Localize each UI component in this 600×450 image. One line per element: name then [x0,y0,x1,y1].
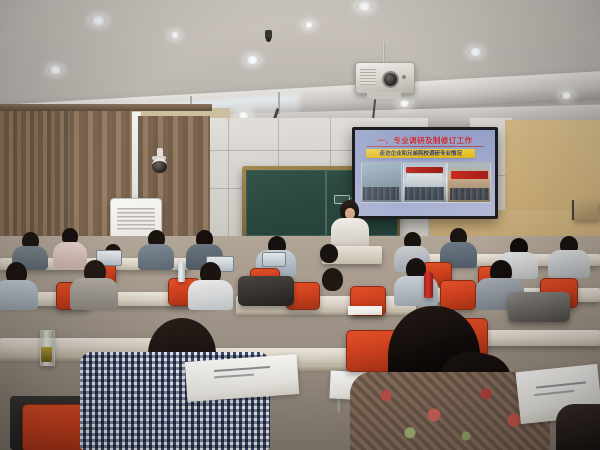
projector-indicator [402,75,406,79]
photo-banner [451,171,488,179]
downlight-icon [560,92,573,99]
backpack [238,276,294,306]
desk-edge [236,311,416,315]
downlight-icon [90,16,107,25]
classroom-scene: flowchart diagram 一、专业调研及制修订工作 走访企业和兄弟院校… [0,0,600,450]
projector-bracket [367,92,401,99]
downlight-icon [48,66,63,74]
downlight-icon [170,32,180,38]
attendee-arm [556,404,600,450]
ac-grille [117,208,155,230]
attendee-body [188,280,233,310]
projector-lens-icon [382,71,399,88]
attendee-body [548,250,590,278]
laptop [262,252,286,267]
screen-glare [355,130,447,216]
curtain-rail [0,104,212,111]
water-bottle [178,262,185,282]
downlight-icon [468,48,483,56]
sprinkler-icon [265,30,272,39]
handout-paper [185,354,300,402]
attendee-head [322,268,343,291]
projector-icon [355,62,415,94]
projection-screen: 一、专业调研及制修订工作 走访企业和兄弟院校调研专业情况 [352,127,498,219]
downlight-icon [304,22,314,28]
thermos-red [424,272,433,298]
attendee-body [53,242,87,268]
panel-seam [228,118,229,246]
wall-mounted-box [572,200,598,220]
downlight-icon [398,100,411,107]
handbag [508,292,570,322]
chair [440,280,476,310]
attendee-body [138,244,174,270]
photo-crowd [450,188,489,200]
slide-content: 一、专业调研及制修订工作 走访企业和兄弟院校调研专业情况 [355,130,495,216]
handout-paper [348,306,382,315]
downlight-icon [245,56,260,64]
chalkboard-divider [325,171,327,235]
attendee-body [0,280,38,310]
projector-vent [360,69,376,85]
attendee-body [70,278,118,310]
attendee-head [320,244,338,263]
downlight-icon [356,2,373,11]
tea-leaves [41,347,52,362]
security-camera-icon [152,158,167,173]
slide-photo [447,162,491,203]
